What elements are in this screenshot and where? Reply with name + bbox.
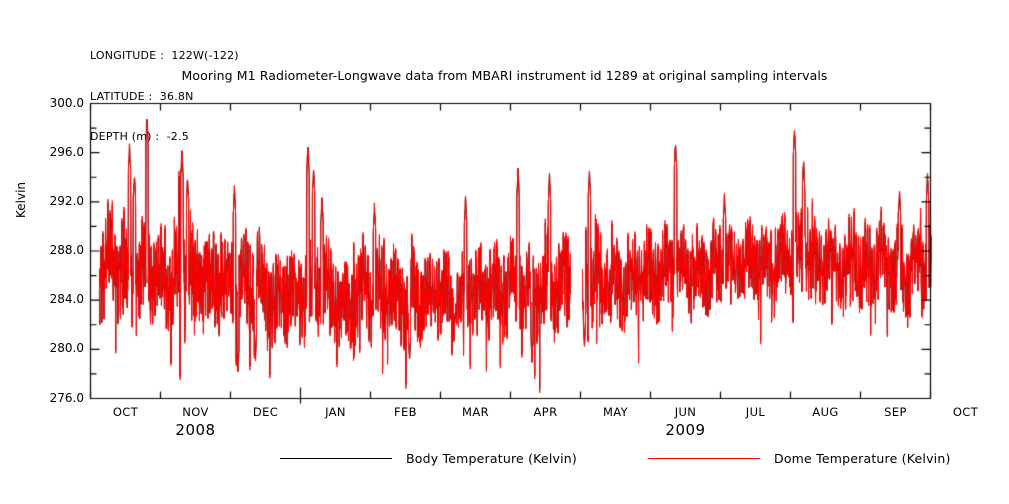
x-tick-label: APR (516, 405, 576, 419)
x-tick-label: FEB (376, 405, 436, 419)
x-axis-year-label: 2009 (636, 421, 736, 439)
y-tick-label: 288.0 (26, 243, 84, 257)
x-tick-label: OCT (936, 405, 996, 419)
legend-swatch-line (648, 458, 760, 459)
legend-item: Dome Temperature (Kelvin) (648, 444, 951, 472)
legend-label: Dome Temperature (Kelvin) (774, 451, 951, 466)
x-tick-label: OCT (96, 405, 156, 419)
x-tick-label: JAN (306, 405, 366, 419)
x-tick-label: JUL (726, 405, 786, 419)
x-tick-label: AUG (796, 405, 856, 419)
x-tick-label: NOV (166, 405, 226, 419)
x-tick-label: SEP (866, 405, 926, 419)
x-tick-label: DEC (236, 405, 296, 419)
y-tick-label: 296.0 (26, 145, 84, 159)
legend-item: Body Temperature (Kelvin) (280, 444, 577, 472)
y-tick-label: 276.0 (26, 391, 84, 405)
legend-swatch-line (280, 458, 392, 459)
x-tick-label: JUN (656, 405, 716, 419)
x-tick-label: MAR (446, 405, 506, 419)
y-tick-label: 280.0 (26, 341, 84, 355)
y-tick-label: 300.0 (26, 96, 84, 110)
legend-label: Body Temperature (Kelvin) (406, 451, 577, 466)
y-tick-label: 284.0 (26, 292, 84, 306)
y-tick-label: 292.0 (26, 194, 84, 208)
x-axis-year-label: 2008 (146, 421, 246, 439)
chart-legend: Body Temperature (Kelvin)Dome Temperatur… (0, 444, 1009, 472)
x-tick-label: MAY (586, 405, 646, 419)
